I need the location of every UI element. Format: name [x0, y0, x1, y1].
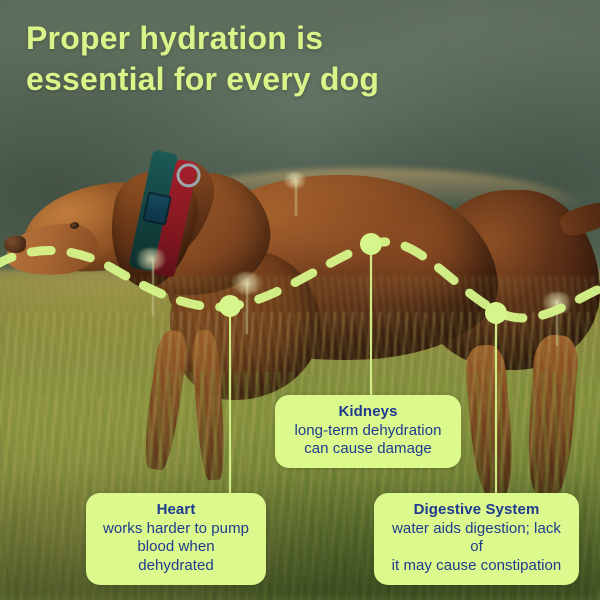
page-title: Proper hydration is essential for every …: [26, 18, 496, 100]
callout-kidneys-body: long-term dehydration can cause damage: [287, 422, 449, 460]
callout-heart-body: works harder to pump blood when dehydrat…: [98, 520, 254, 577]
callout-kidneys[interactable]: Kidneys long-term dehydration can cause …: [275, 395, 461, 468]
heart-marker-dot[interactable]: [219, 295, 241, 317]
callout-heart[interactable]: Heart works harder to pump blood when de…: [86, 493, 266, 585]
page-title-line-1: Proper hydration is: [26, 18, 496, 59]
annotation-overlay: Proper hydration is essential for every …: [0, 0, 600, 600]
infographic-poster: Proper hydration is essential for every …: [0, 0, 600, 600]
callout-heart-title: Heart: [98, 500, 254, 520]
callout-digestive-title: Digestive System: [386, 500, 567, 520]
callout-kidneys-title: Kidneys: [287, 402, 449, 422]
digestive-marker-dot[interactable]: [485, 302, 507, 324]
callout-digestive[interactable]: Digestive System water aids digestion; l…: [374, 493, 579, 585]
kidneys-marker-dot[interactable]: [360, 233, 382, 255]
page-title-line-2: essential for every dog: [26, 59, 496, 100]
dashed-body-curve: [0, 242, 600, 318]
callout-digestive-body: water aids digestion; lack of it may cau…: [386, 520, 567, 577]
